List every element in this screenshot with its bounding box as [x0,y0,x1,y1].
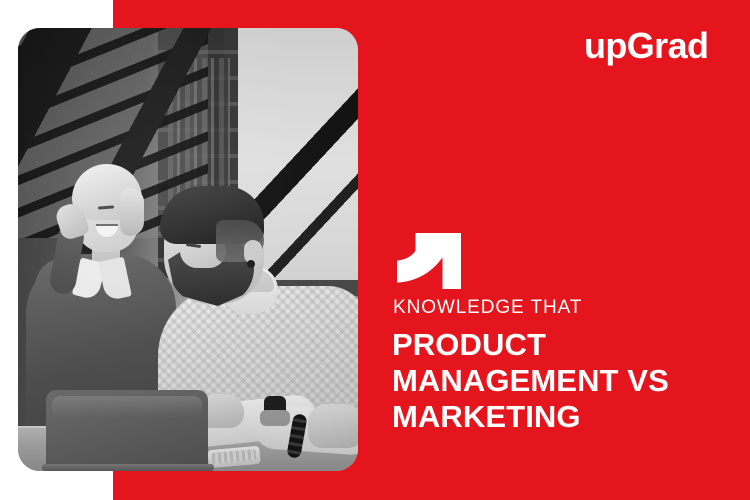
upgrad-logo[interactable]: upGrad [584,26,708,66]
photo-man-earring [247,260,255,268]
headline-line-2: MANAGEMENT VS [392,363,722,399]
photo-man-watch-band [260,410,290,426]
photo-woman-hair-side [120,188,144,236]
photo-laptop-base [42,464,214,471]
photo-right-railing-two [268,28,358,288]
photo-man-hand-right [308,404,358,448]
headline-line-3: MARKETING [392,399,722,435]
hero-photo [18,28,358,471]
page-title: PRODUCT MANAGEMENT VS MARKETING [392,327,722,435]
headline-line-1: PRODUCT [392,327,722,363]
up-right-arrow-icon [397,233,461,289]
upgrad-promo-banner: upGrad KNOWLEDGE THAT PRODUCT MANAGEMENT… [0,0,750,500]
photo-laptop-highlight [52,396,202,418]
eyebrow-text: KNOWLEDGE THAT [393,296,582,320]
